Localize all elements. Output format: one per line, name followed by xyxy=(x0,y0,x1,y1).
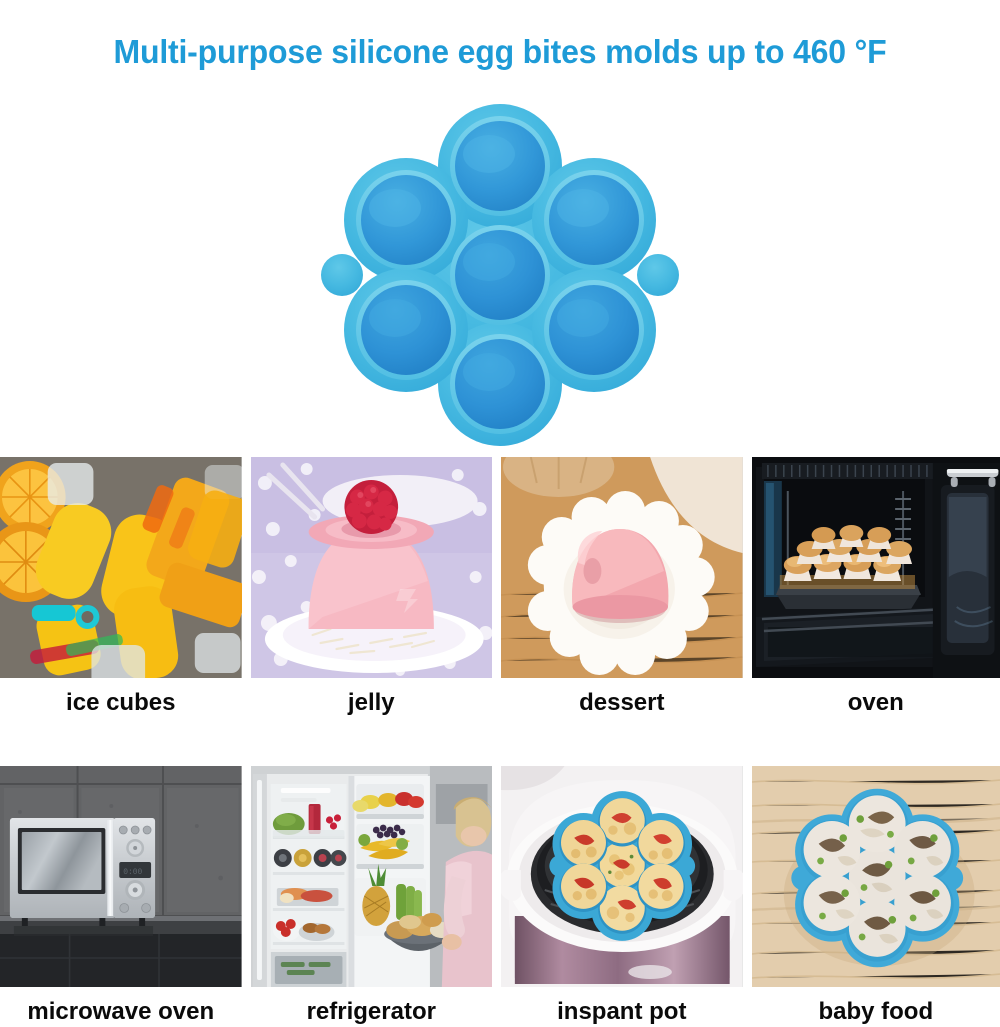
hero-product-image xyxy=(0,100,1000,450)
use-case-grid: ice cubes xyxy=(0,457,1000,1027)
use-case-label: microwave oven xyxy=(0,987,242,1027)
photo-refrigerator xyxy=(251,766,493,987)
photo-jelly xyxy=(251,457,493,678)
use-case-label: refrigerator xyxy=(251,987,493,1027)
use-case-cell-microwave-oven: 0:00 xyxy=(0,766,242,1027)
use-case-label: baby food xyxy=(752,987,1000,1027)
photo-dessert xyxy=(501,457,743,678)
use-case-cell-jelly: jelly xyxy=(251,457,493,718)
use-case-cell-dessert: dessert xyxy=(501,457,743,718)
use-case-label: jelly xyxy=(251,678,493,718)
photo-oven xyxy=(752,457,1000,678)
silicone-mold-illustration xyxy=(320,100,680,450)
use-case-label: ice cubes xyxy=(0,678,242,718)
photo-baby-food xyxy=(752,766,1000,987)
use-case-row: 0:00 xyxy=(0,766,1000,1027)
photo-ice-cubes xyxy=(0,457,242,678)
use-case-cell-ice-cubes: ice cubes xyxy=(0,457,242,718)
use-case-label: inspant pot xyxy=(501,987,743,1027)
use-case-cell-oven: oven xyxy=(752,457,1000,718)
page-title: Multi-purpose silicone egg bites molds u… xyxy=(15,31,985,73)
use-case-cell-baby-food: baby food xyxy=(752,766,1000,1027)
svg-text:0:00: 0:00 xyxy=(123,868,142,877)
use-case-label: oven xyxy=(752,678,1000,718)
photo-microwave-oven: 0:00 xyxy=(0,766,242,987)
use-case-cell-refrigerator: refrigerator xyxy=(251,766,493,1027)
use-case-cell-instant-pot: inspant pot xyxy=(501,766,743,1027)
use-case-label: dessert xyxy=(501,678,743,718)
photo-instant-pot xyxy=(501,766,743,987)
use-case-row: ice cubes xyxy=(0,457,1000,718)
